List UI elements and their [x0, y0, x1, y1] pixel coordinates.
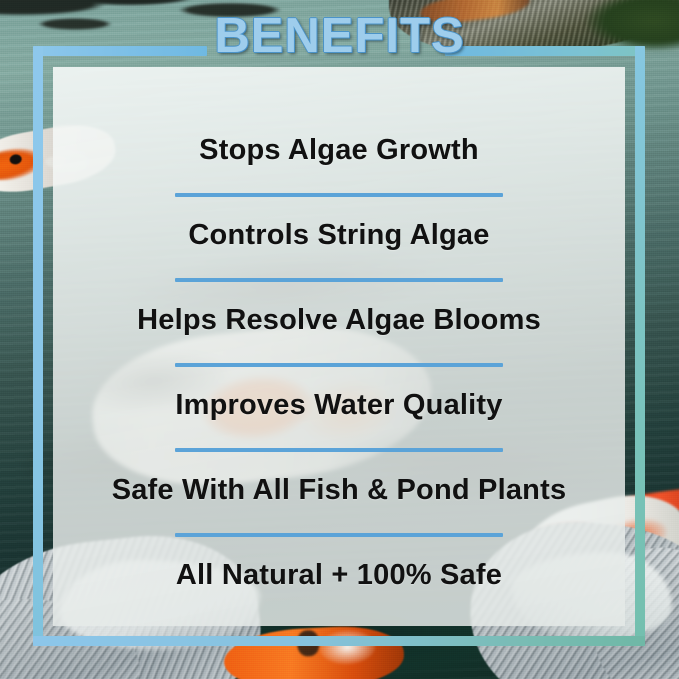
benefit-item: Helps Resolve Algae Blooms: [53, 278, 625, 363]
benefit-item: Safe With All Fish & Pond Plants: [53, 448, 625, 533]
benefits-list: Stops Algae Growth Controls String Algae…: [53, 67, 625, 626]
benefits-infographic: BENEFITS Stops Algae Growth Controls Str…: [0, 0, 679, 679]
benefit-item: Controls String Algae: [53, 193, 625, 278]
frame-right-bar: [635, 46, 645, 646]
benefit-label: Helps Resolve Algae Blooms: [137, 306, 541, 335]
benefit-item: Improves Water Quality: [53, 363, 625, 448]
frame-bottom-bar: [33, 636, 645, 646]
benefit-label: Improves Water Quality: [175, 391, 502, 420]
benefit-item: All Natural + 100% Safe: [53, 533, 625, 618]
benefit-item: Stops Algae Growth: [53, 108, 625, 193]
benefit-label: Safe With All Fish & Pond Plants: [112, 476, 567, 505]
benefit-label: Controls String Algae: [188, 221, 489, 250]
frame-left-bar: [33, 46, 43, 646]
benefit-label: Stops Algae Growth: [199, 136, 479, 165]
page-title: BENEFITS: [0, 12, 679, 61]
benefit-label: All Natural + 100% Safe: [176, 561, 502, 590]
